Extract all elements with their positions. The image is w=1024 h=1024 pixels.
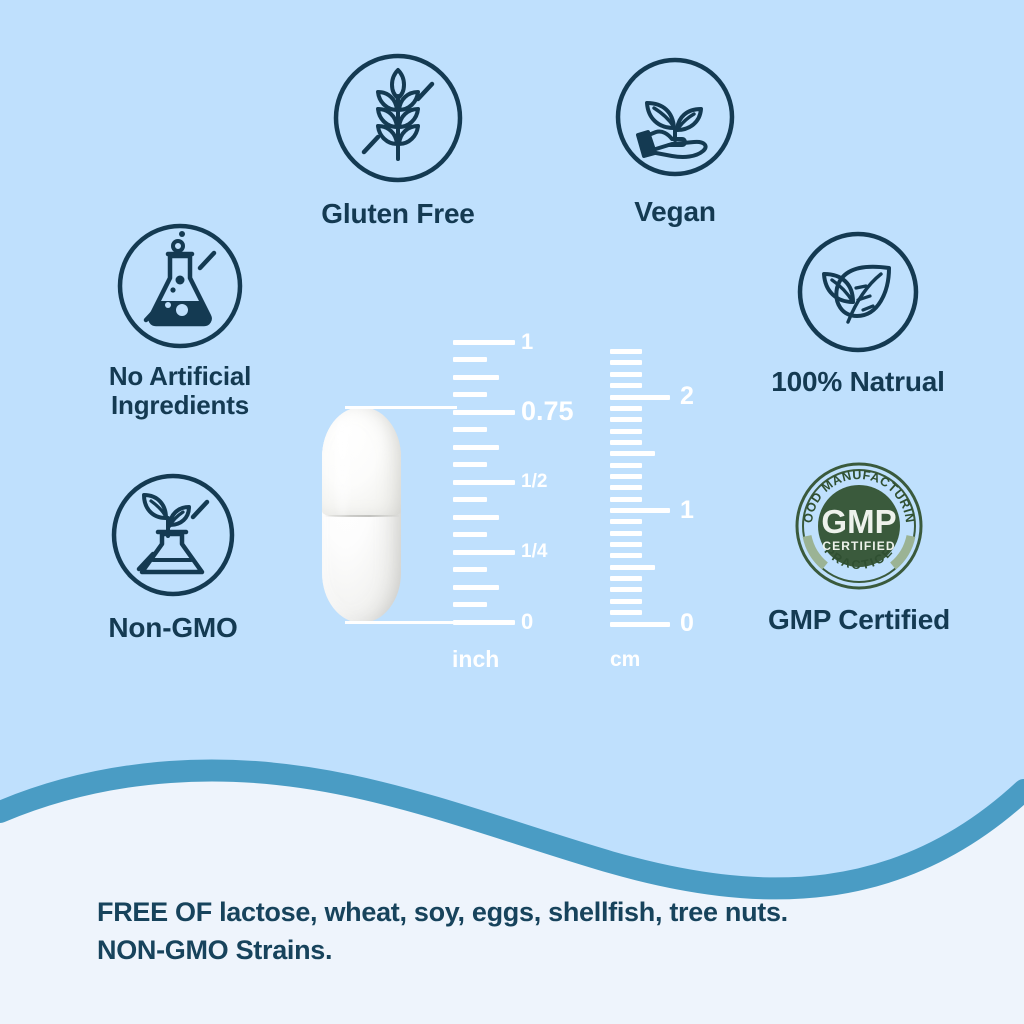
ruler-major-tick: [610, 395, 670, 400]
ruler-minor-tick: [610, 417, 642, 422]
badge-vegan: Vegan: [560, 56, 790, 227]
ruler-minor-tick: [453, 602, 487, 607]
ruler-major-tick: [453, 550, 515, 555]
ruler-minor-tick: [610, 599, 642, 604]
ruler-minor-tick: [610, 406, 642, 411]
ruler-tick-label: 1: [521, 331, 533, 353]
ruler-minor-tick: [610, 440, 642, 445]
ruler-minor-tick: [453, 497, 487, 502]
ruler-major-tick: [453, 340, 515, 345]
cm-ruler: 012: [610, 330, 710, 640]
ruler-minor-tick: [610, 542, 642, 547]
ruler-major-tick: [453, 410, 515, 415]
ruler-tick-label: 1/4: [521, 542, 547, 561]
footer-free-of-text: FREE OF lactose, wheat, soy, eggs, shell…: [97, 893, 947, 970]
capsule-highlight: [335, 420, 351, 519]
capsule-bottom-leader: [345, 621, 457, 624]
badge-non-gmo: Non-GMO: [48, 472, 298, 643]
ruler-minor-tick: [453, 532, 487, 537]
ruler-minor-tick: [610, 497, 642, 502]
badge-label: Vegan: [560, 196, 790, 227]
ruler-minor-tick: [453, 462, 487, 467]
ruler-minor-tick: [453, 445, 499, 450]
flask-no-icon: [116, 222, 244, 350]
ruler-minor-tick: [610, 383, 642, 388]
ruler-major-tick: [610, 622, 670, 627]
ruler-tick-label: 1: [680, 498, 694, 523]
ruler-minor-tick: [453, 357, 487, 362]
ruler-minor-tick: [610, 360, 642, 365]
plant-flask-no-icon: [110, 472, 236, 598]
ruler-minor-tick: [610, 463, 642, 468]
ruler-minor-tick: [453, 515, 499, 520]
ruler-minor-tick: [453, 567, 487, 572]
gmp-seal-icon: GOOD MANUFACTURING PRACTICE GMP CERTIFIE…: [795, 462, 923, 590]
ruler-major-tick: [453, 620, 515, 625]
inch-unit-label: inch: [452, 646, 499, 673]
white-capsule: [322, 407, 401, 623]
capsule-seam: [324, 515, 399, 517]
ruler-minor-tick: [610, 349, 642, 354]
badge-label: Non-GMO: [48, 612, 298, 643]
ruler-minor-tick: [610, 553, 642, 558]
ruler-minor-tick: [610, 576, 642, 581]
ruler-major-tick: [453, 480, 515, 485]
ruler-minor-tick: [453, 585, 499, 590]
badge-gluten-free: Gluten Free: [268, 52, 528, 229]
ruler-tick-label: 0: [521, 611, 533, 633]
ruler-minor-tick: [610, 610, 642, 615]
gmp-sub-text: CERTIFIED: [822, 539, 895, 553]
ruler-minor-tick: [610, 485, 642, 490]
ruler-major-tick: [610, 508, 670, 513]
badge-gmp-certified: GOOD MANUFACTURING PRACTICE GMP CERTIFIE…: [726, 462, 992, 635]
ruler-tick-label: 1/2: [521, 472, 547, 491]
wheat-no-icon: [332, 52, 464, 184]
ruler-minor-tick: [453, 392, 487, 397]
badge-natural: 100% Natrual: [718, 230, 998, 397]
hand-plant-icon: [614, 56, 736, 178]
badge-label: 100% Natrual: [718, 366, 998, 397]
ruler-tick-label: 0.75: [521, 398, 574, 425]
gmp-center-text: GMP: [821, 503, 896, 540]
badge-label: No Artificial Ingredients: [58, 362, 302, 420]
ruler-minor-tick: [610, 474, 642, 479]
ruler-minor-tick: [610, 429, 642, 434]
ruler-minor-tick: [610, 451, 655, 456]
ruler-minor-tick: [453, 427, 487, 432]
inch-ruler: 01/41/20.751: [453, 330, 563, 640]
cm-unit-label: cm: [610, 648, 640, 672]
ruler-tick-label: 0: [680, 611, 694, 636]
ruler-minor-tick: [610, 587, 642, 592]
ruler-minor-tick: [610, 565, 655, 570]
ruler-tick-label: 2: [680, 384, 694, 409]
capsule-cap: [322, 407, 401, 516]
two-leaves-icon: [796, 230, 920, 354]
ruler-minor-tick: [610, 531, 642, 536]
badge-no-artificial: No Artificial Ingredients: [58, 222, 302, 420]
ruler-minor-tick: [453, 375, 499, 380]
badge-label: Gluten Free: [268, 198, 528, 229]
product-infographic: Gluten Free Vegan: [0, 0, 1024, 1024]
ruler-minor-tick: [610, 519, 642, 524]
ruler-minor-tick: [610, 372, 642, 377]
badge-label: GMP Certified: [726, 604, 992, 635]
capsule-top-leader: [345, 406, 457, 409]
